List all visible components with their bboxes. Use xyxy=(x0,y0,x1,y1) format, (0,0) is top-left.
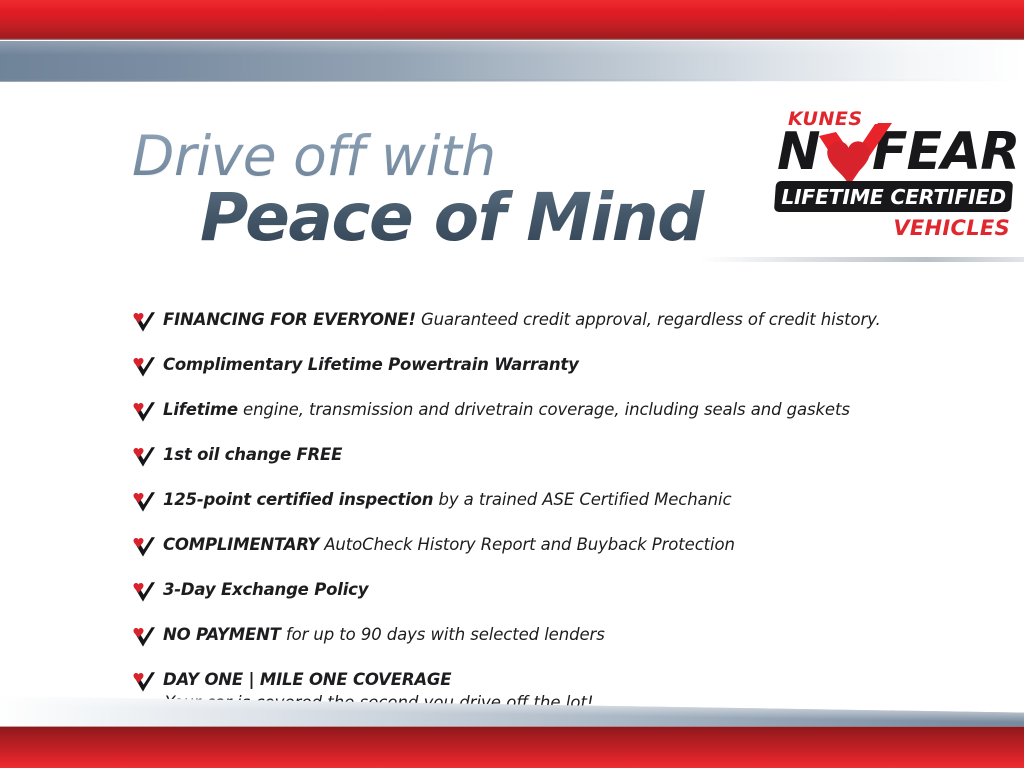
top-gray-band-highlight xyxy=(0,41,1024,55)
feature-item: Lifetime engine, transmission and drivet… xyxy=(130,398,970,430)
headline-line-1: Drive off with xyxy=(132,126,752,186)
feature-item: 125-point certified inspection by a trai… xyxy=(130,488,970,520)
logo-banner-text: LIFETIME CERTIFIED xyxy=(775,181,1012,212)
feature-item: NO PAYMENT for up to 90 days with select… xyxy=(130,623,970,655)
logo-word-fear: FEAR xyxy=(872,126,1019,178)
logo-nofear-lockup: N FEAR xyxy=(775,126,1015,182)
headline-line-2: Peace of Mind xyxy=(200,182,752,254)
feature-item-detail: AutoCheck History Report and Buyback Pro… xyxy=(319,535,735,554)
heart-check-icon xyxy=(130,536,156,558)
feature-item-detail: by a trained ASE Certified Mechanic xyxy=(433,490,731,509)
feature-item-headline: Complimentary Lifetime Powertrain Warran… xyxy=(163,355,579,374)
feature-item-headline: 3-Day Exchange Policy xyxy=(163,580,368,599)
feature-item-text: FINANCING FOR EVERYONE! Guaranteed credi… xyxy=(163,308,970,331)
feature-list: FINANCING FOR EVERYONE! Guaranteed credi… xyxy=(130,308,970,715)
feature-item-text: 125-point certified inspection by a trai… xyxy=(163,488,970,511)
feature-item: Complimentary Lifetime Powertrain Warran… xyxy=(130,353,970,385)
logo-vehicles-wordmark: VEHICLES xyxy=(893,216,1010,240)
top-red-band xyxy=(0,0,1024,40)
heart-check-icon xyxy=(130,446,156,468)
feature-item-text: 1st oil change FREE xyxy=(163,443,970,466)
heart-check-icon xyxy=(808,122,894,188)
top-gray-band-shadow xyxy=(0,79,1024,82)
heart-check-icon xyxy=(130,491,156,513)
feature-item: COMPLIMENTARY AutoCheck History Report a… xyxy=(130,533,970,565)
kunes-no-fear-logo: KUNES N FEAR LIFETIME CERTIFIED VEHICLES xyxy=(775,108,1015,248)
heart-check-icon xyxy=(130,311,156,333)
feature-item-text: Lifetime engine, transmission and drivet… xyxy=(163,398,970,421)
heart-check-icon xyxy=(130,626,156,648)
feature-item-headline: 1st oil change FREE xyxy=(163,445,342,464)
feature-item-headline: Lifetime xyxy=(163,400,238,419)
feature-item-text: NO PAYMENT for up to 90 days with select… xyxy=(163,623,970,646)
feature-item-headline: NO PAYMENT xyxy=(163,625,281,644)
feature-item-headline: COMPLIMENTARY xyxy=(163,535,319,554)
feature-item: FINANCING FOR EVERYONE! Guaranteed credi… xyxy=(130,308,970,340)
feature-item-headline: DAY ONE | MILE ONE COVERAGE xyxy=(163,670,451,689)
feature-item-headline: 125-point certified inspection xyxy=(163,490,433,509)
feature-item: 3-Day Exchange Policy xyxy=(130,578,970,610)
top-red-band-edge xyxy=(0,38,1024,40)
promo-poster: Drive off with Peace of Mind KUNES N FEA… xyxy=(0,0,1024,768)
bottom-band-group xyxy=(0,690,1024,768)
feature-item-text: DAY ONE | MILE ONE COVERAGE xyxy=(163,668,970,691)
heart-check-icon xyxy=(130,356,156,378)
feature-item-detail: engine, transmission and drivetrain cove… xyxy=(238,400,850,419)
feature-item-detail: Guaranteed credit approval, regardless o… xyxy=(416,310,881,329)
feature-item-headline: FINANCING FOR EVERYONE! xyxy=(163,310,416,329)
feature-item-text: COMPLIMENTARY AutoCheck History Report a… xyxy=(163,533,970,556)
headline-block: Drive off with Peace of Mind xyxy=(132,126,752,254)
feature-item: 1st oil change FREE xyxy=(130,443,970,475)
heart-check-icon xyxy=(130,581,156,603)
bottom-red-band xyxy=(0,727,1024,768)
feature-item-text: Complimentary Lifetime Powertrain Warran… xyxy=(163,353,970,376)
heart-check-icon xyxy=(130,401,156,423)
feature-item-text: 3-Day Exchange Policy xyxy=(163,578,970,601)
headline-divider xyxy=(700,257,1024,262)
feature-item-detail: for up to 90 days with selected lenders xyxy=(281,625,605,644)
